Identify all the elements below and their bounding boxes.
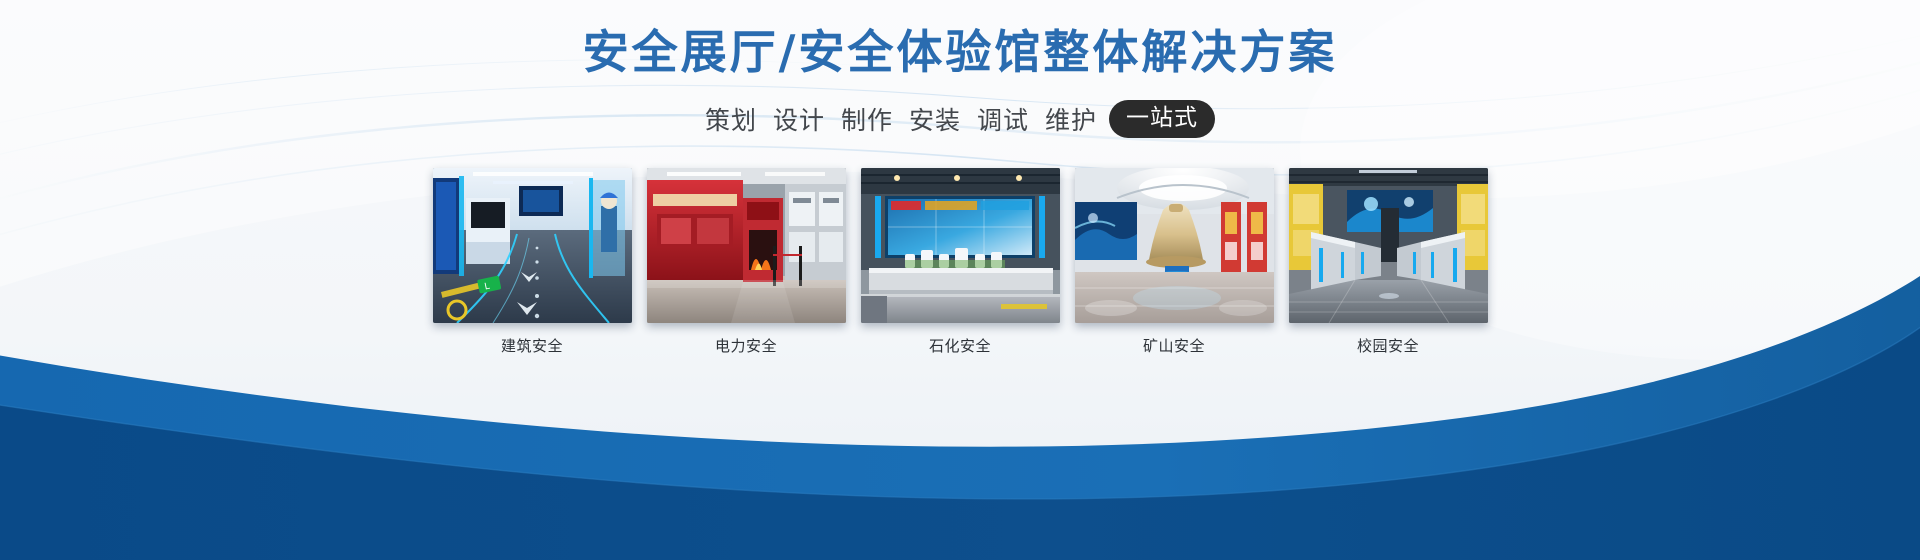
- exhibition-hall-card[interactable]: 石化安全: [861, 168, 1060, 355]
- service-step: 维护: [1045, 106, 1097, 135]
- card-caption: 电力安全: [715, 337, 777, 355]
- exhibition-hall-card-list: L 建筑安全: [0, 168, 1920, 355]
- page-title: 安全展厅/安全体验馆整体解决方案: [583, 24, 1338, 82]
- service-step: 制作: [841, 106, 893, 135]
- construction-safety-thumbnail[interactable]: L: [433, 168, 632, 323]
- campus-safety-thumbnail[interactable]: [1289, 168, 1488, 323]
- service-steps-list: 策划设计制作安装调试维护: [705, 101, 1109, 137]
- one-stop-badge: 一站式: [1109, 100, 1215, 138]
- subtitle-container: 策划设计制作安装调试维护 一站式: [0, 100, 1920, 138]
- service-step: 调试: [977, 106, 1029, 135]
- card-caption: 校园安全: [1357, 337, 1419, 355]
- power-safety-thumbnail[interactable]: [647, 168, 846, 323]
- title-container: 安全展厅/安全体验馆整体解决方案: [0, 24, 1920, 82]
- exhibition-hall-card[interactable]: L 建筑安全: [433, 168, 632, 355]
- card-caption: 建筑安全: [501, 337, 563, 355]
- exhibition-hall-card[interactable]: 电力安全: [647, 168, 846, 355]
- service-step: 设计: [773, 106, 825, 135]
- petrochemical-safety-thumbnail[interactable]: [861, 168, 1060, 323]
- exhibition-hall-card[interactable]: 矿山安全: [1075, 168, 1274, 355]
- service-step: 安装: [909, 106, 961, 135]
- promotional-banner: 安全展厅/安全体验馆整体解决方案 策划设计制作安装调试维护 一站式: [0, 0, 1920, 560]
- card-caption: 矿山安全: [1143, 337, 1205, 355]
- card-caption: 石化安全: [929, 337, 991, 355]
- mining-safety-thumbnail[interactable]: [1075, 168, 1274, 323]
- service-step: 策划: [705, 106, 757, 135]
- exhibition-hall-card[interactable]: 校园安全: [1289, 168, 1488, 355]
